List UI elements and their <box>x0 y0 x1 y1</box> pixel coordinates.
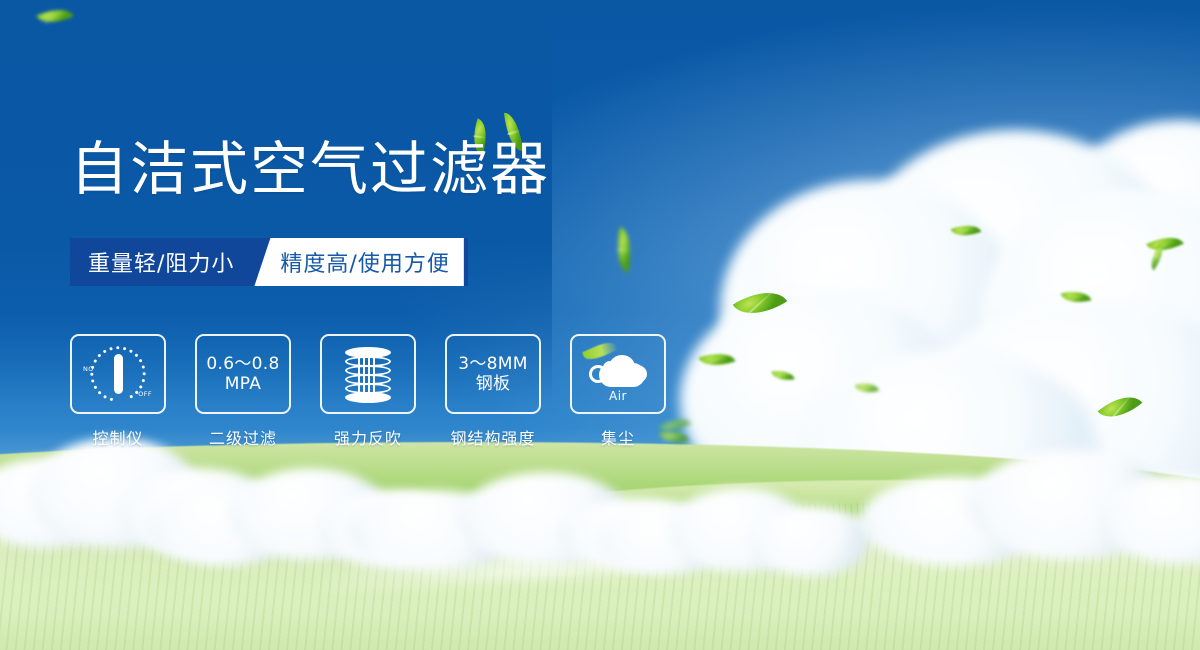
pressure-line-1: 0.6～0.8 <box>206 354 279 374</box>
feature-label: 集尘 <box>570 425 666 449</box>
subtitle-bar: 重量轻/阻力小 精度高/使用方便 <box>70 238 468 286</box>
feature-label: 强力反吹 <box>320 425 416 449</box>
subtitle-left-text: 重量轻/阻力小 <box>70 238 254 286</box>
feature-icon-box: NO OFF <box>70 334 166 414</box>
feature-item-pressure[interactable]: 0.6～0.8 MPA 二级过滤 <box>195 334 291 449</box>
feature-item-controller[interactable]: NO OFF 控制仪 <box>70 334 166 449</box>
gauge-label-off: OFF <box>138 390 152 398</box>
gauge-needle <box>114 354 123 394</box>
gauge-icon: NO OFF <box>86 345 150 403</box>
product-banner: 自洁式空气过滤器 重量轻/阻力小 精度高/使用方便 <box>0 0 1200 650</box>
cloud-body <box>599 363 645 387</box>
feature-item-dust-collection[interactable]: Air 集尘 <box>570 334 666 449</box>
horizon-cloud-5 <box>860 450 1200 580</box>
feature-icon-box <box>320 334 416 414</box>
air-cloud-icon: Air <box>587 349 649 399</box>
steel-line-1: 3～8MM <box>458 354 527 374</box>
feature-item-steel[interactable]: 3～8MM 钢板 钢结构强度 <box>445 334 541 449</box>
pressure-line-2: MPA <box>206 374 279 394</box>
air-label: Air <box>587 389 649 403</box>
steel-line-2: 钢板 <box>458 374 527 394</box>
page-title: 自洁式空气过滤器 <box>70 140 550 198</box>
feature-item-blowback[interactable]: 强力反吹 <box>320 334 416 449</box>
pressure-text-icon: 0.6～0.8 MPA <box>206 354 279 394</box>
feature-label: 钢结构强度 <box>445 425 541 449</box>
feature-label: 二级过滤 <box>195 425 291 449</box>
blowback-icon <box>340 345 396 403</box>
feature-icon-box: Air <box>570 334 666 414</box>
subtitle-right-text: 精度高/使用方便 <box>254 238 463 286</box>
steel-plate-text-icon: 3～8MM 钢板 <box>458 354 527 394</box>
feature-icon-box: 0.6～0.8 MPA <box>195 334 291 414</box>
feature-label: 控制仪 <box>70 425 166 449</box>
feature-list: NO OFF 控制仪 0.6～0.8 MPA 二级过滤 <box>70 334 666 449</box>
gauge-label-no: NO <box>83 365 94 373</box>
horizon-cloud-4 <box>600 488 860 588</box>
feature-icon-box: 3～8MM 钢板 <box>445 334 541 414</box>
